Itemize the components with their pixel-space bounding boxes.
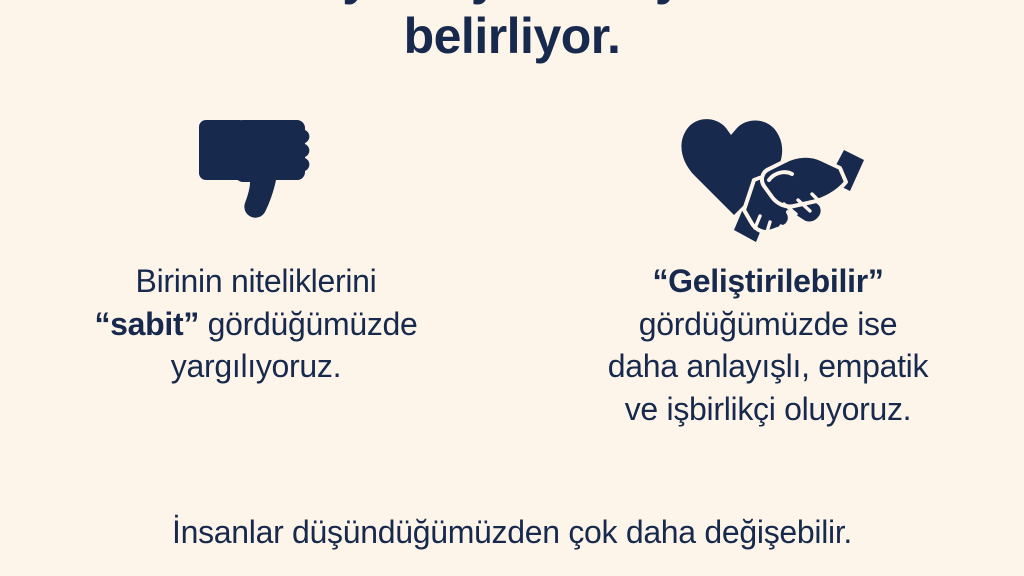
footer-statement: İnsanlar düşündüğümüzden çok daha değişe… [0, 512, 1024, 554]
thumbs-down-icon [197, 118, 315, 258]
fixed-line-1: Birinin niteliklerini [94, 260, 417, 303]
growth-line-1: “Geliştirilebilir” [608, 260, 928, 303]
growth-line-3: daha anlayışlı, empatik [608, 345, 928, 388]
growth-line-1-bold: “Geliştirilebilir” [652, 263, 883, 299]
heading-cropped-line: büyümeyi belirliyor. [0, 0, 1024, 7]
fixed-line-2-rest: gördüğümüzde [199, 306, 417, 342]
column-growth-mindset-text: “Geliştirilebilir” gördüğümüzde ise daha… [608, 260, 928, 430]
content-columns: Birinin niteliklerini “sabit” gördüğümüz… [0, 118, 1024, 430]
column-growth-mindset: “Geliştirilebilir” gördüğümüzde ise daha… [512, 118, 1024, 430]
column-fixed-mindset-text: Birinin niteliklerini “sabit” gördüğümüz… [94, 260, 417, 388]
fixed-line-3: yargılıyoruz. [94, 345, 417, 388]
fixed-line-2-bold: “sabit” [94, 306, 199, 342]
fixed-line-2: “sabit” gördüğümüzde [94, 303, 417, 346]
slide-canvas: büyümeyi belirliyor. belirliyor. Birinin… [0, 0, 1024, 576]
growth-line-2: gördüğümüzde ise [608, 303, 928, 346]
column-fixed-mindset: Birinin niteliklerini “sabit” gördüğümüz… [0, 118, 512, 430]
slide-heading: büyümeyi belirliyor. belirliyor. [0, 0, 1024, 66]
growth-line-4: ve işbirlikçi oluyoruz. [608, 388, 928, 431]
page-title: belirliyor. [0, 7, 1024, 66]
heart-handshake-icon [668, 118, 868, 258]
